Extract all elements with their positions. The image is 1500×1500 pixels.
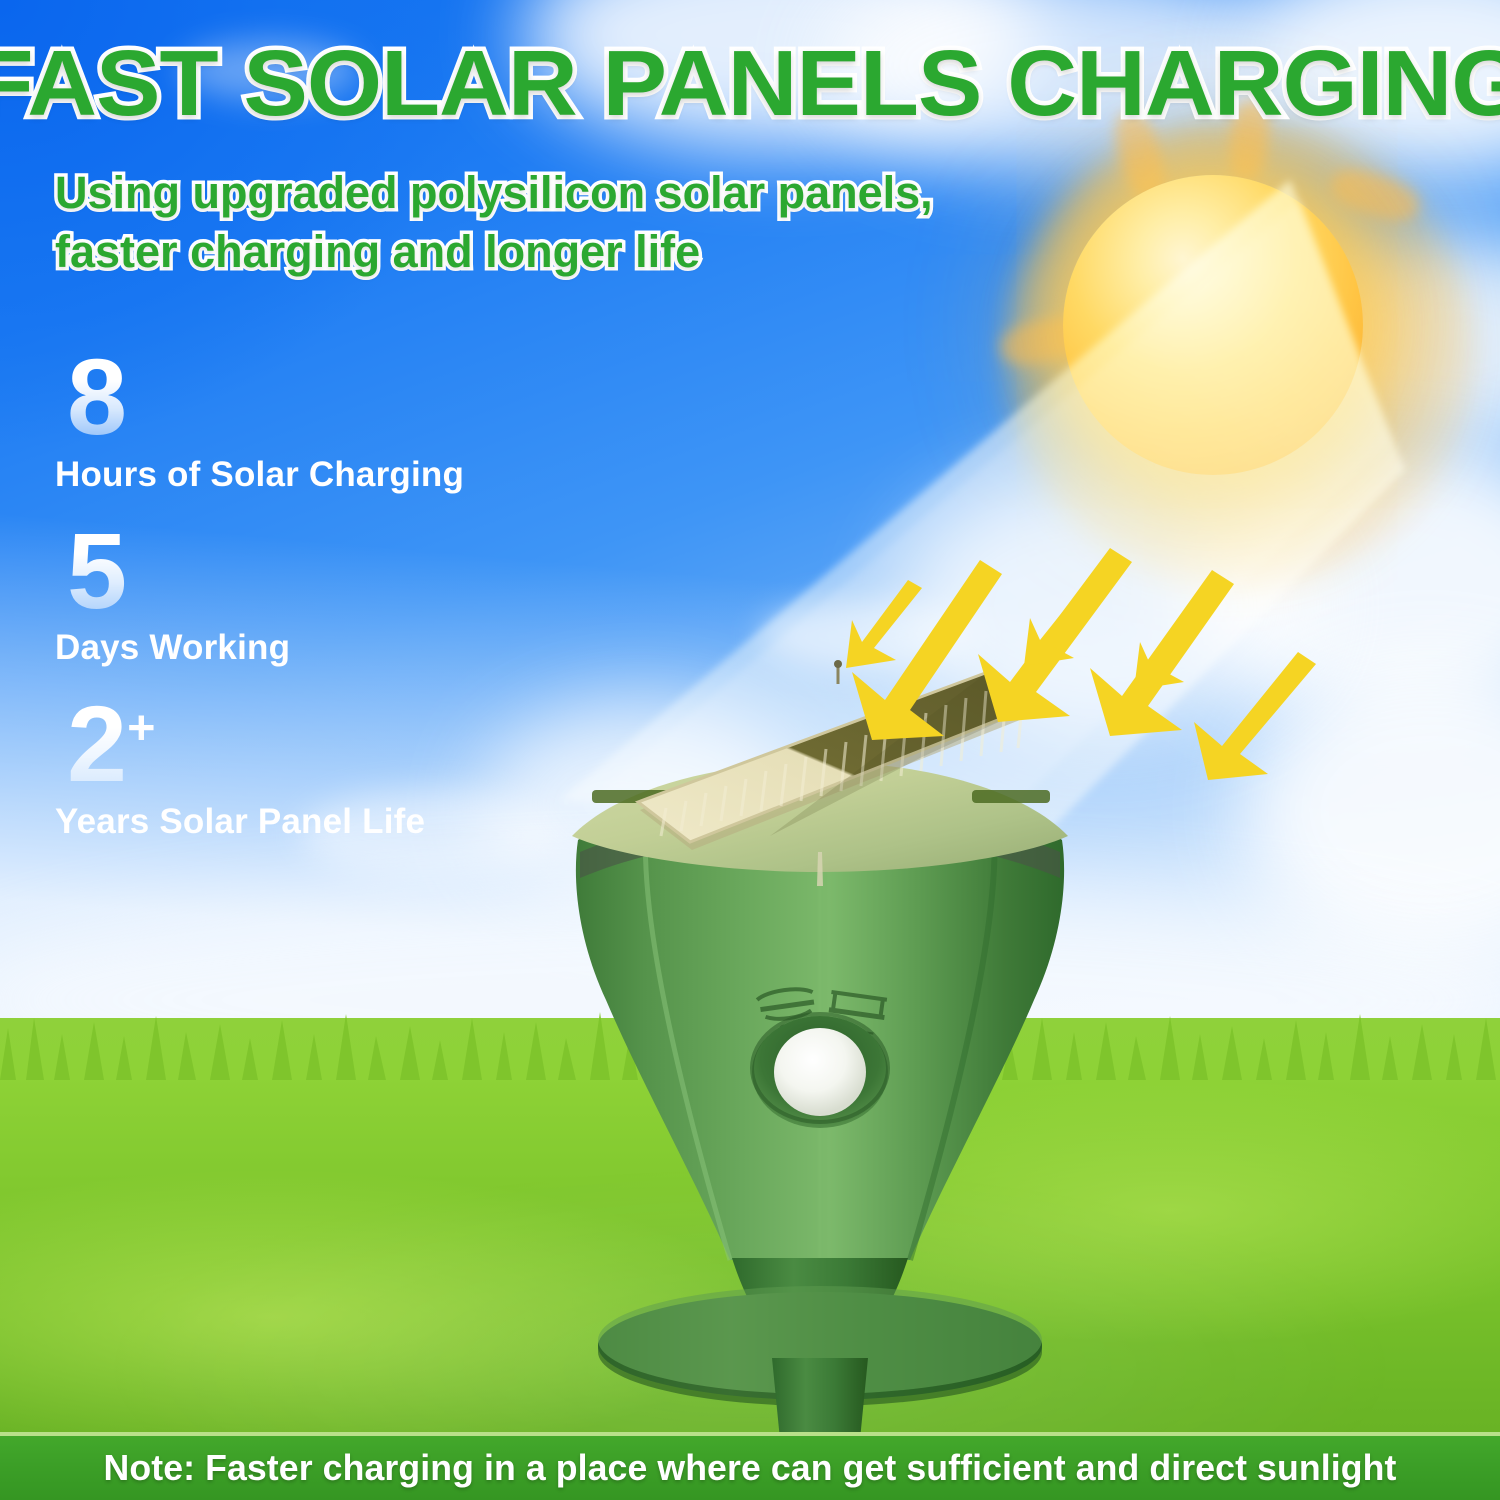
page-title: FAST SOLAR PANELS CHARGING [0, 30, 1500, 137]
stat-plus-years: + [127, 701, 155, 755]
subtitle: Using upgraded polysilicon solar panels,… [55, 163, 1055, 282]
stat-label-years: Years Solar Panel Life [55, 802, 615, 842]
sun [1063, 175, 1363, 475]
solar-product-infographic: ON OFF [0, 0, 1500, 1500]
stat-label-hours: Hours of Solar Charging [55, 455, 615, 495]
note-bar: Note: Faster charging in a place where c… [0, 1432, 1500, 1500]
switch-knob[interactable] [774, 1028, 866, 1116]
subtitle-line-2: faster charging and longer life [55, 222, 1055, 281]
stat-item-days: 5 Days Working [55, 519, 615, 669]
note-text: Note: Faster charging in a place where c… [104, 1447, 1397, 1489]
stat-value-hours: 8 [55, 345, 127, 449]
stat-number-years: 2 [67, 683, 127, 804]
stats-list: 8 Hours of Solar Charging 5 Days Working… [55, 345, 615, 866]
stat-value-years: 2+ [55, 692, 155, 796]
body-seam [817, 852, 823, 886]
stat-item-hours: 8 Hours of Solar Charging [55, 345, 615, 495]
subtitle-line-1: Using upgraded polysilicon solar panels, [55, 163, 1055, 222]
sensor-tip [834, 660, 842, 668]
stat-number-days: 5 [67, 510, 127, 631]
stat-label-days: Days Working [55, 628, 615, 668]
top-cap-vent-right [972, 790, 1050, 803]
stat-item-years: 2+ Years Solar Panel Life [55, 692, 615, 842]
stat-number-hours: 8 [67, 336, 127, 457]
stat-value-days: 5 [55, 519, 127, 623]
